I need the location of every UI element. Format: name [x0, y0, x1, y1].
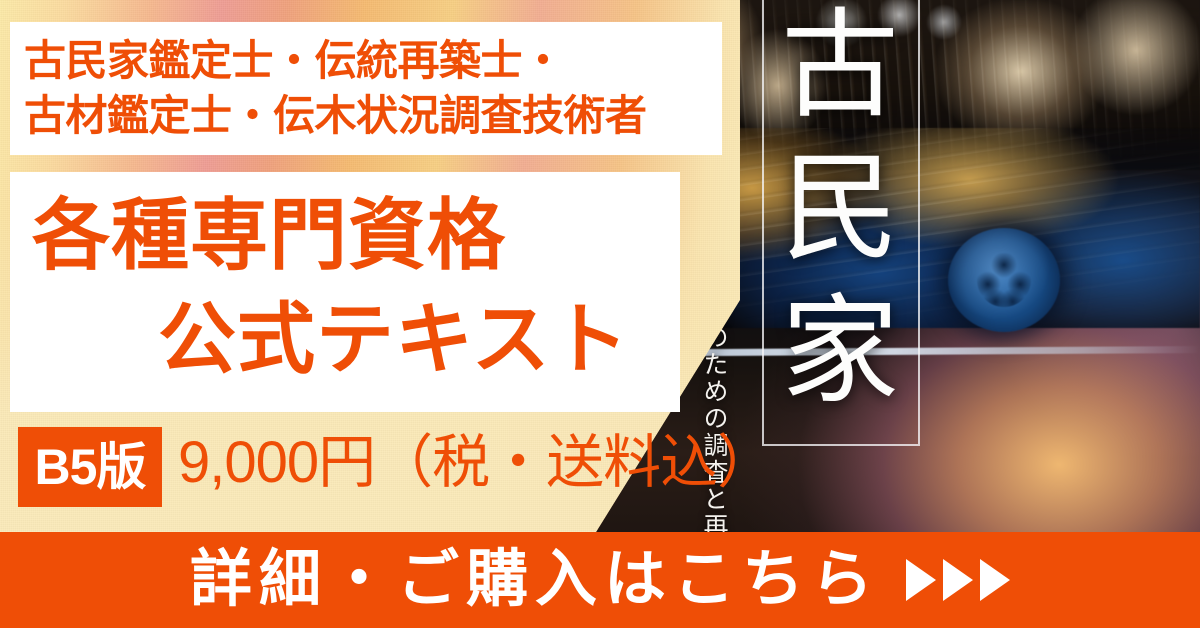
- qualifications-line-1: 古民家鑑定士・伝統再築士・: [24, 34, 647, 89]
- cover-title-char-2: 民: [772, 139, 908, 282]
- headline-line-2: 公式テキスト: [158, 300, 630, 378]
- headline-line-1: 各種専門資格: [32, 196, 506, 274]
- qualifications-line-2: 古材鑑定士・伝木状況調査技術者: [24, 89, 647, 144]
- chevron-right-icon-1: [906, 559, 936, 601]
- qualifications-panel: 古民家鑑定士・伝統再築士・ 古材鑑定士・伝木状況調査技術者: [10, 22, 722, 155]
- cover-title-char-1: 古: [772, 0, 908, 139]
- family-crest-medallion: [948, 228, 1060, 332]
- format-badge: B5版: [18, 427, 162, 507]
- price-text: 9,000円（税・送料込）: [178, 434, 774, 492]
- format-badge-label: B5版: [35, 442, 146, 492]
- chevron-right-icon-3: [980, 559, 1010, 601]
- headline-panel: 各種専門資格 公式テキスト: [10, 172, 680, 412]
- promo-banner: 古 民 家 伝統構法 古民家活用のための調査と再生の 古民家鑑定士・伝統再築士・…: [0, 0, 1200, 628]
- cta-button[interactable]: 詳細・ご購入はこちら: [0, 532, 1200, 628]
- cover-title-vertical: 古 民 家: [772, 0, 908, 424]
- cta-arrows: [906, 559, 1010, 601]
- chevron-right-icon-2: [943, 559, 973, 601]
- cta-label: 詳細・ご購入はこちら: [190, 549, 880, 611]
- qualifications-text: 古民家鑑定士・伝統再築士・ 古材鑑定士・伝木状況調査技術者: [24, 34, 647, 143]
- cover-title-char-3: 家: [772, 282, 908, 425]
